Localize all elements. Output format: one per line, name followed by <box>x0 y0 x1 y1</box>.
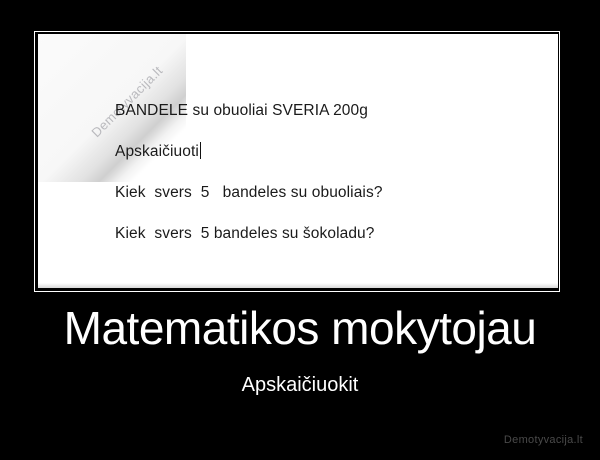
demotivational-poster: Demotyvacija.lt BANDELE su obuoliai SVER… <box>0 0 600 460</box>
text-cursor-caret <box>200 142 201 159</box>
problem-line-2: Apskaičiuoti <box>115 131 535 172</box>
problem-line-1: BANDELE su obuoliai SVERIA 200g <box>115 90 535 131</box>
poster-title: Matematikos mokytojau <box>0 300 600 356</box>
site-credit: Demotyvacija.lt <box>504 434 583 446</box>
problem-line-4: Kiek svers 5 bandeles su šokoladu? <box>115 213 535 254</box>
caption-block: Matematikos mokytojau Apskaičiuokit <box>0 300 600 400</box>
math-problem-text: BANDELE su obuoliai SVERIA 200g Apskaiči… <box>115 90 535 254</box>
problem-line-2-text: Apskaičiuoti <box>115 143 199 160</box>
poster-subtitle: Apskaičiuokit <box>0 370 600 400</box>
image-panel: Demotyvacija.lt BANDELE su obuoliai SVER… <box>38 34 558 288</box>
problem-line-3: Kiek svers 5 bandeles su obuoliais? <box>115 172 535 213</box>
